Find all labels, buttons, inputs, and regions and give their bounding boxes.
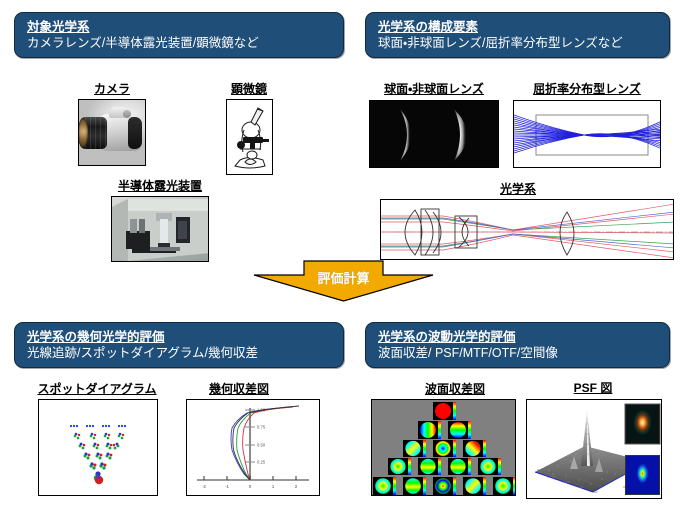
- callout-target-optical-system: 対象光学系 カメラレンズ/半導体露光装置/顕微鏡など: [14, 12, 344, 58]
- caption-microscope: 顕微鏡: [221, 80, 277, 97]
- aberration-plot-chart: 1.00 0.75 0.50 0.25 -2 -1 0: [187, 400, 320, 496]
- grin-image: [514, 101, 660, 167]
- spot-diagram-image: [39, 400, 157, 495]
- svg-text:0: 0: [249, 484, 252, 489]
- callout-geometric-evaluation: 光学系の幾何光学的評価 光線追跡/スポットダイアグラム/幾何収差: [14, 322, 344, 368]
- evaluation-arrow: 評価計算: [252, 260, 435, 302]
- caption-spot-diagram: スポットダイアグラム: [22, 380, 172, 397]
- caption-optical-system: 光学系: [489, 180, 547, 197]
- psf-inset-warm: [625, 404, 660, 444]
- svg-text:0.25: 0.25: [257, 460, 266, 465]
- microscope-drawing: [227, 100, 273, 175]
- callout-subtitle: 光線追跡/スポットダイアグラム/幾何収差: [27, 345, 333, 362]
- caption-camera: カメラ: [78, 80, 146, 97]
- psf-inset-cool: [625, 455, 660, 495]
- svg-text:-1: -1: [225, 484, 229, 489]
- lens-photo-image: [370, 101, 498, 167]
- figure-optical-system: [380, 199, 674, 260]
- figure-spherical-aspheric-lens: [369, 100, 499, 168]
- callout-subtitle: 球面・非球面レンズ/屈折率分布型レンズなど: [378, 35, 659, 52]
- caption-aberration-plot: 幾何収差図: [196, 380, 282, 397]
- figure-stepper: [111, 196, 209, 262]
- grin-raytrace: [514, 101, 661, 168]
- svg-text:-2: -2: [202, 484, 206, 489]
- figure-psf: -500 -300 -100 100 300 -500 -300 -100 10…: [526, 399, 662, 499]
- zernike-pyramid: [372, 400, 516, 496]
- caption-psf: PSF 図: [560, 379, 626, 396]
- down-arrow-icon: [252, 260, 435, 302]
- spot-diagram-plot: [39, 400, 158, 496]
- figure-aberration-plot: 1.00 0.75 0.50 0.25 -2 -1 0: [186, 399, 320, 496]
- callout-subtitle: カメラレンズ/半導体露光装置/顕微鏡など: [27, 35, 333, 52]
- caption-spherical-aspheric-lens: 球面・非球面レンズ: [365, 80, 503, 97]
- callout-title: 光学系の波動光学的評価: [378, 329, 659, 345]
- optical-system-image: [381, 200, 673, 259]
- svg-text:100: 100: [579, 485, 584, 489]
- aberration-plot-image: 1.00 0.75 0.50 0.25 -2 -1 0: [187, 400, 319, 495]
- svg-text:0.50: 0.50: [257, 443, 266, 448]
- zernike-row-5: [373, 477, 516, 495]
- microscope-image: [227, 100, 272, 174]
- lens-crescents: [370, 101, 499, 168]
- psf-image: -500 -300 -100 100 300 -500 -300 -100 10…: [527, 400, 661, 498]
- figure-camera: [78, 99, 146, 166]
- svg-text:0.75: 0.75: [257, 425, 266, 430]
- camera-grip: [128, 117, 143, 150]
- svg-text:1: 1: [272, 484, 275, 489]
- callout-optical-system-elements: 光学系の構成要素 球面・非球面レンズ/屈折率分布型レンズなど: [365, 12, 670, 58]
- figure-spot-diagram: [38, 399, 158, 496]
- figure-grin-lens: [513, 100, 661, 168]
- callout-subtitle: 波面収差/ PSF/MTF/OTF/空間像: [378, 345, 659, 362]
- svg-text:2: 2: [295, 484, 298, 489]
- figure-wavefront: [371, 399, 516, 496]
- svg-text:-100: -100: [565, 480, 571, 484]
- caption-wavefront: 波面収差図: [400, 380, 510, 397]
- caption-grin-lens: 屈折率分布型レンズ: [512, 80, 662, 97]
- figure-microscope: [226, 99, 273, 175]
- zernike-row-1: [433, 402, 456, 420]
- camera-image: [79, 100, 145, 165]
- caption-stepper: 半導体露光装置: [105, 177, 215, 194]
- callout-title: 対象光学系: [27, 19, 333, 35]
- svg-text:-300: -300: [551, 475, 557, 479]
- callout-wave-evaluation: 光学系の波動光学的評価 波面収差/ PSF/MTF/OTF/空間像: [365, 322, 670, 368]
- svg-text:300: 300: [593, 490, 598, 494]
- zernike-row-3: [403, 440, 486, 457]
- wavefront-image: [372, 400, 515, 495]
- optical-system-raytrace: [381, 200, 674, 260]
- svg-text:-500: -500: [536, 468, 542, 472]
- stepper-drawing: [112, 197, 209, 262]
- stepper-image: [112, 197, 208, 261]
- callout-title: 光学系の構成要素: [378, 19, 659, 35]
- slide-canvas: 対象光学系 カメラレンズ/半導体露光装置/顕微鏡など 光学系の構成要素 球面・非…: [0, 0, 682, 517]
- callout-title: 光学系の幾何光学的評価: [27, 329, 333, 345]
